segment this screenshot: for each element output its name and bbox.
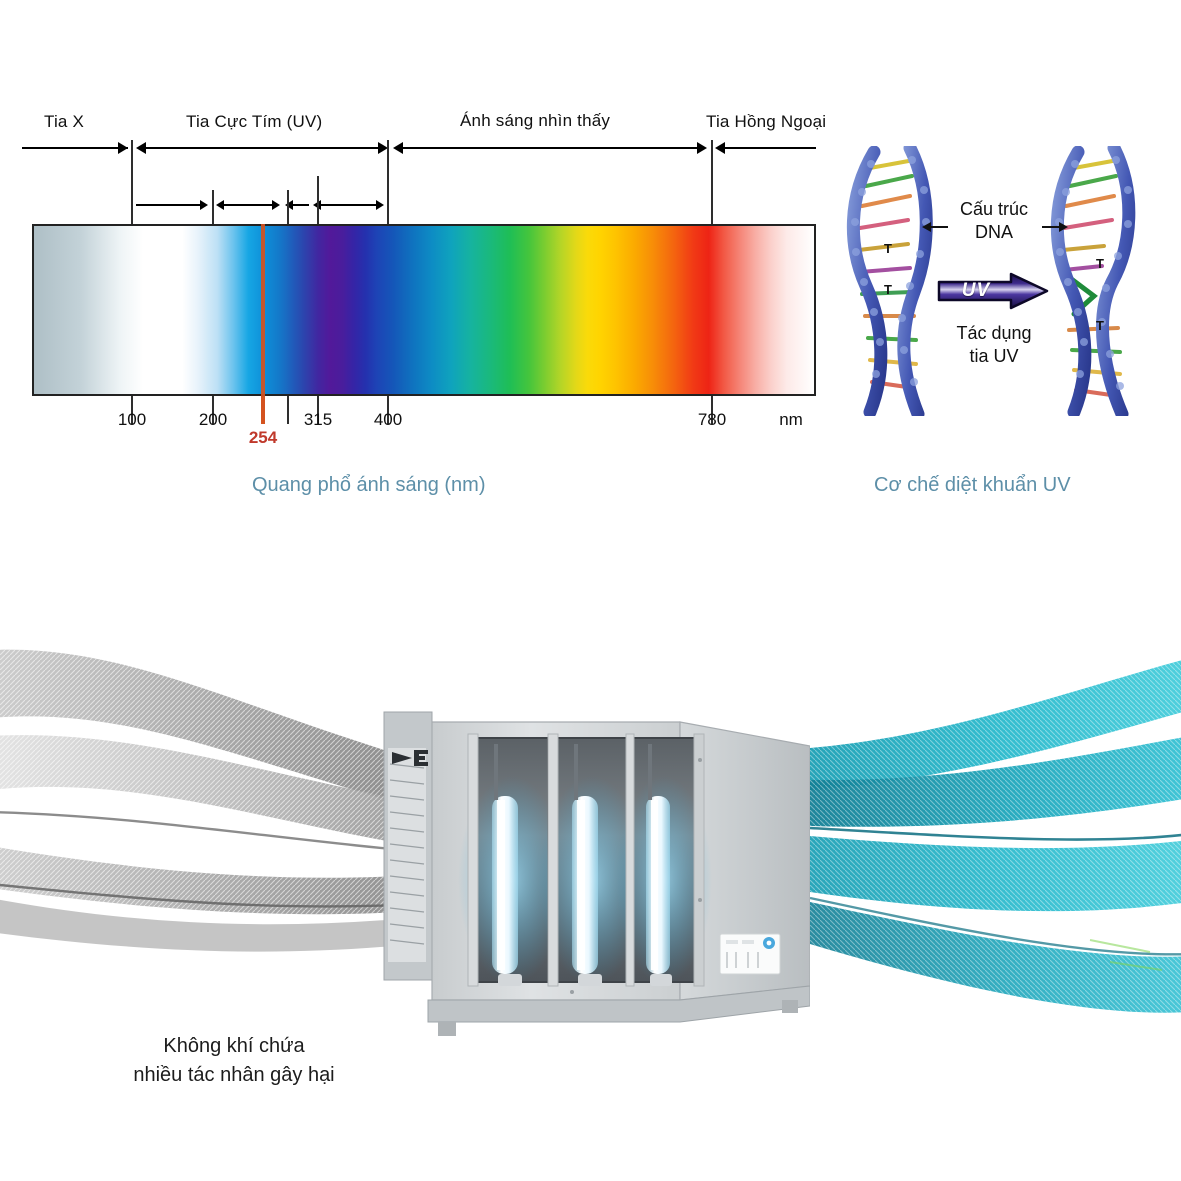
pointer-line-left: [930, 226, 948, 228]
svg-text:T: T: [884, 282, 892, 297]
axis-segment-infrared: [724, 147, 816, 149]
arrow-right-icon: [272, 200, 280, 210]
axis-segment-xray: [22, 147, 128, 149]
band-label-visible: Ánh sáng nhìn thấy: [460, 111, 610, 131]
dirty-air-caption-line1: Không khí chứa: [163, 1035, 304, 1057]
pointer-line-right: [1042, 226, 1060, 228]
dna-helix-damaged: T T: [1044, 146, 1142, 416]
uv-effect-label-line2: tia UV: [969, 346, 1018, 366]
axis-segment-visible: [402, 147, 702, 149]
axis-segment-uva2: [321, 204, 379, 206]
axis-segment-uv: [145, 147, 385, 149]
arrow-right-icon: [697, 142, 707, 154]
dna-caption: Cơ chế diệt khuẩn UV: [874, 474, 1071, 497]
dirty-air-caption-line2: nhiều tác nhân gây hại: [133, 1064, 334, 1086]
svg-text:T: T: [1096, 256, 1104, 271]
band-label-ultraviolet: Tia Cực Tím (UV): [186, 112, 322, 132]
tick-label-200: 200: [199, 410, 227, 430]
uv-dna-mechanism-diagram: T T: [830, 140, 1181, 520]
uv-air-purifier-device: [380, 700, 810, 1100]
tick-280: [287, 396, 289, 424]
arrow-right-icon: [200, 200, 208, 210]
axis-segment-uvc: [223, 204, 275, 206]
spectrum-gradient: [34, 226, 814, 394]
tick-254: [261, 396, 265, 424]
axis-segment-uvb: [293, 204, 309, 206]
tick-label-254: 254: [249, 428, 277, 448]
uv-effect-label-line1: Tác dụng: [956, 323, 1031, 343]
uv-arrow-label: UV: [937, 272, 1015, 310]
arrow-right-icon: [1059, 222, 1068, 232]
uv-air-purifier-scene: Không khí sạch Không khí chứa nhiều tác …: [0, 640, 1181, 1181]
dna-helix-normal: T T: [840, 146, 938, 416]
clean-air-stream: [790, 640, 1181, 1060]
device-control-panel: [720, 934, 780, 974]
axis-segment-uva: [136, 204, 204, 206]
spectrum-color-strip: [32, 224, 816, 396]
axis-unit-label: nm: [779, 410, 803, 430]
svg-text:T: T: [884, 241, 892, 256]
dna-structure-label-line1: Cấu trúc: [960, 199, 1028, 219]
svg-text:T: T: [1096, 318, 1104, 333]
dna-structure-label-line2: DNA: [975, 222, 1013, 242]
marker-254nm: [261, 224, 265, 396]
spectrum-caption: Quang phổ ánh sáng (nm): [252, 474, 486, 497]
uv-arrow-graphic: UV: [937, 272, 1049, 310]
arrow-right-icon: [376, 200, 384, 210]
tick-label-315: 315: [304, 410, 332, 430]
arrow-right-icon: [118, 142, 128, 154]
dna-structure-label: Cấu trúc DNA: [942, 198, 1046, 243]
light-spectrum-diagram: Tia X Tia Cực Tím (UV) Ánh sáng nhìn thấ…: [0, 0, 830, 520]
tick-label-780: 780: [698, 410, 726, 430]
band-label-infrared: Tia Hồng Ngoại: [706, 112, 826, 132]
uv-effect-label: Tác dụng tia UV: [938, 322, 1050, 367]
tick-label-100: 100: [118, 410, 146, 430]
band-label-x-ray: Tia X: [44, 112, 84, 132]
tick-label-400: 400: [374, 410, 402, 430]
dirty-air-caption: Không khí chứa nhiều tác nhân gây hại: [104, 1032, 364, 1090]
